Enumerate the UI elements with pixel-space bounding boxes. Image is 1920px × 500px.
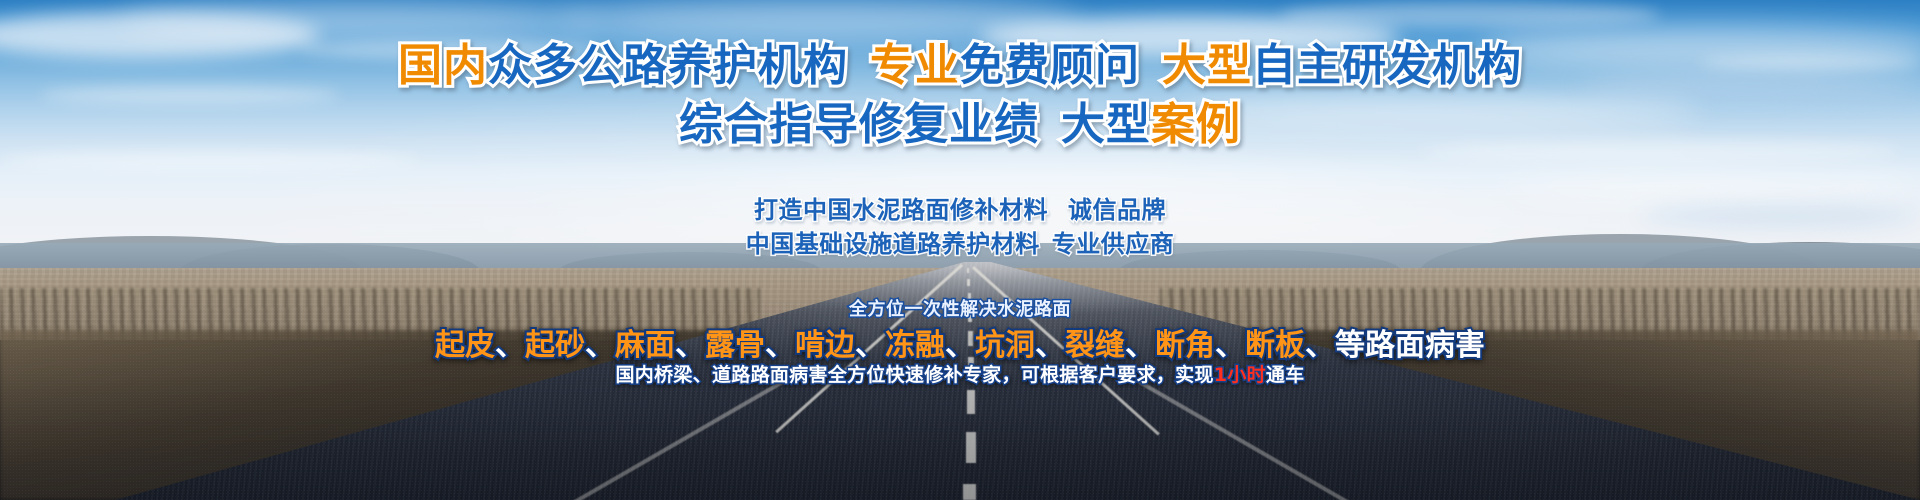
headline-seg-6: 自主研发机构 — [1252, 40, 1522, 91]
headline-seg-1: 国内 — [398, 40, 488, 91]
mid-line-2-tail: 专业供应商 — [1052, 230, 1175, 258]
promotional-banner: 国内众多公路养护机构专业免费顾问大型自主研发机构 综合指导修复业绩大型案例 打造… — [0, 0, 1920, 500]
mid-line-2: 中国基础设施道路养护材料专业供应商 — [0, 224, 1920, 259]
defects-suffix: 等路面病害 — [1335, 328, 1485, 363]
defect-separator: 、 — [855, 328, 885, 363]
defect-item: 起砂 — [525, 328, 585, 363]
tagline-part-a: 国内桥梁、道路路面病害全方位快速修补专家，可根据客户要求，实现 — [615, 364, 1213, 386]
headline-line-2: 综合指导修复业绩大型案例 — [0, 103, 1920, 147]
defects-line: 起皮、起砂、麻面、露骨、啃边、冻融、坑洞、裂缝、断角、断板、等路面病害 — [0, 320, 1920, 364]
tagline-part-b: 通车 — [1266, 364, 1305, 386]
headline2-seg-1: 综合指导修复业绩 — [679, 99, 1039, 150]
defect-item: 啃边 — [795, 328, 855, 363]
defect-separator: 、 — [585, 328, 615, 363]
mid-line-1: 打造中国水泥路面修补材料诚信品牌 — [0, 190, 1920, 225]
headline-seg-2: 众多公路养护机构 — [488, 40, 848, 91]
defect-item: 断角 — [1155, 328, 1215, 363]
defect-item: 裂缝 — [1065, 328, 1125, 363]
defect-separator: 、 — [1305, 328, 1335, 363]
defect-separator: 、 — [945, 328, 975, 363]
banner-text: 国内众多公路养护机构专业免费顾问大型自主研发机构 综合指导修复业绩大型案例 打造… — [0, 0, 1920, 500]
headline-seg-4: 免费顾问 — [960, 40, 1140, 91]
headline2-seg-3: 案例 — [1151, 99, 1241, 150]
mid-line-1-tail: 诚信品牌 — [1068, 196, 1166, 224]
defect-separator: 、 — [1215, 328, 1245, 363]
tagline-line: 国内桥梁、道路路面病害全方位快速修补专家，可根据客户要求，实现1小时通车 — [0, 360, 1920, 387]
defect-item: 起皮 — [435, 328, 495, 363]
defects-list: 起皮、起砂、麻面、露骨、啃边、冻融、坑洞、裂缝、断角、断板、 — [435, 328, 1335, 363]
headline-seg-3: 专业 — [870, 40, 960, 91]
defect-item: 冻融 — [885, 328, 945, 363]
defect-separator: 、 — [495, 328, 525, 363]
defect-item: 麻面 — [615, 328, 675, 363]
defect-item: 断板 — [1245, 328, 1305, 363]
mid-line-2-main: 中国基础设施道路养护材料 — [746, 230, 1040, 258]
defect-separator: 、 — [675, 328, 705, 363]
mid-line-1-main: 打造中国水泥路面修补材料 — [754, 196, 1048, 224]
bottom-caption: 全方位一次性解决水泥路面 — [0, 295, 1920, 321]
defect-item: 露骨 — [705, 328, 765, 363]
headline-line-1: 国内众多公路养护机构专业免费顾问大型自主研发机构 — [0, 44, 1920, 88]
defect-separator: 、 — [1125, 328, 1155, 363]
headline-seg-5: 大型 — [1162, 40, 1252, 91]
headline2-seg-2: 大型 — [1061, 99, 1151, 150]
defect-separator: 、 — [765, 328, 795, 363]
defect-item: 坑洞 — [975, 328, 1035, 363]
defect-separator: 、 — [1035, 328, 1065, 363]
tagline-highlight: 1小时 — [1214, 364, 1266, 386]
